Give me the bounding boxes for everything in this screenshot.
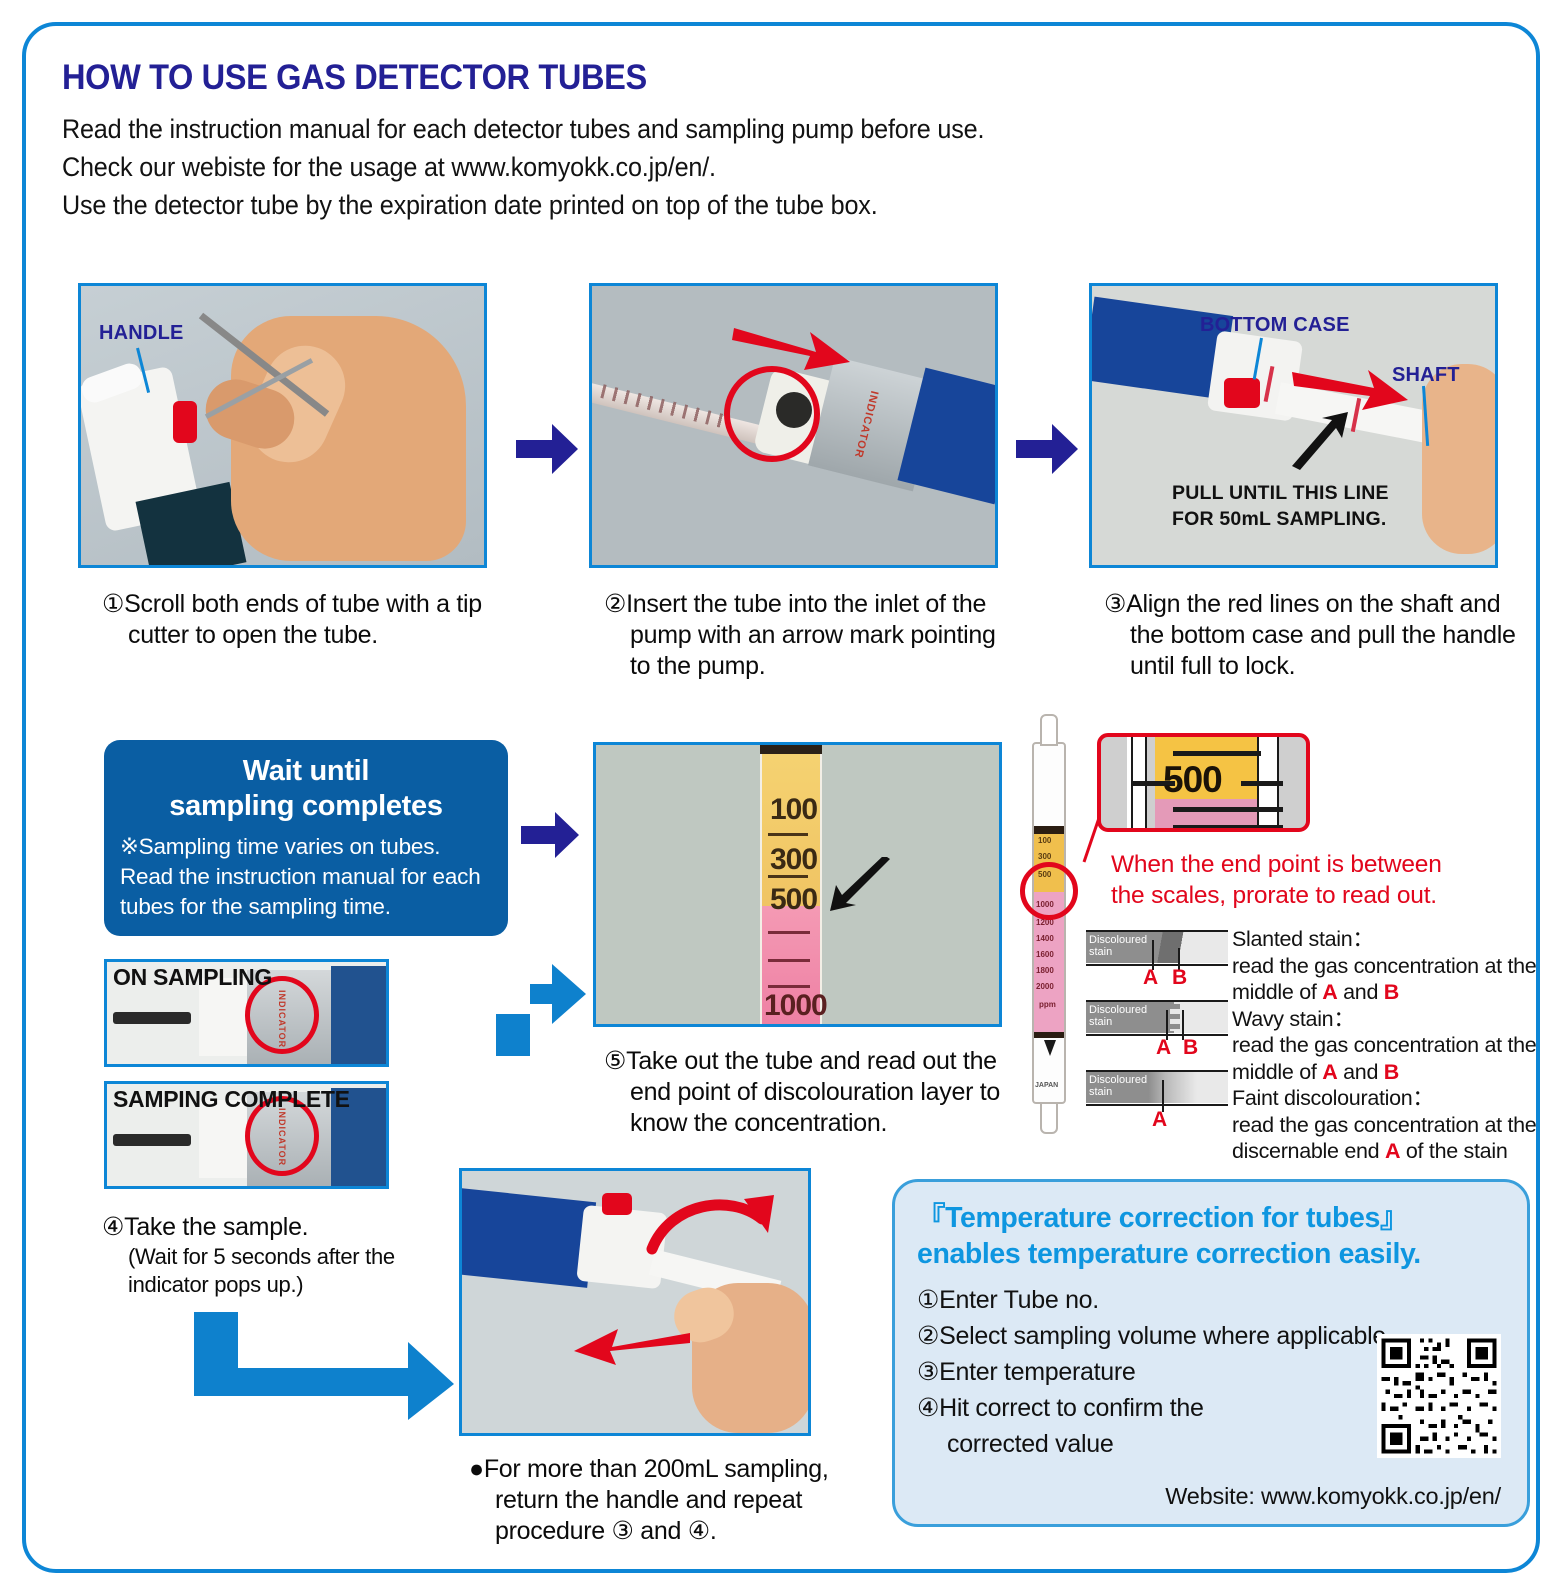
step-4-sub-line-2: indicator pops up.) xyxy=(102,1271,462,1299)
stain-body-3b: discernable end xyxy=(1232,1139,1385,1163)
stain-mid-2: and xyxy=(1337,1060,1383,1084)
tube-diagram: 100 300 500 1000 1200 1400 1600 1800 200… xyxy=(1026,714,1072,1134)
temp-step-2-number: ② xyxy=(917,1322,939,1350)
step-3-text-line-1: Align the red lines on the shaft and xyxy=(1126,590,1500,618)
scale-1400: 1400 xyxy=(1036,934,1054,943)
stain-a-2: A xyxy=(1322,1060,1337,1084)
wavy-edge xyxy=(1170,1004,1180,1031)
magnifier-note-line-2: the scales, prorate to read out. xyxy=(1111,880,1511,911)
stain-mark-a: A xyxy=(1143,966,1158,990)
stain-text-2: Wavy stain： read the gas concentration a… xyxy=(1232,1006,1547,1086)
flow-arrow-elbow-down xyxy=(194,1312,454,1425)
stain-a-3: A xyxy=(1385,1139,1400,1163)
scale-1800: 1800 xyxy=(1036,966,1054,975)
red-lever xyxy=(173,401,197,443)
flow-arrow-1 xyxy=(516,424,578,474)
stain-title-3: Faint discolouration： xyxy=(1232,1086,1434,1110)
return-handle-photo xyxy=(459,1168,811,1436)
step-3-photo: BOTTOM CASE SHAFT PULL UNTIL THIS LINE F… xyxy=(1089,283,1498,568)
handle-label: HANDLE xyxy=(99,322,184,345)
stain-guide-text: Slanted stain： read the gas concentratio… xyxy=(1232,926,1547,1165)
flow-arrow-elbow-up xyxy=(496,946,586,1061)
repeat-line-3: procedure ③ and ④. xyxy=(469,1516,869,1547)
rotate-arrow-red xyxy=(644,1189,776,1266)
flow-arrow-3 xyxy=(521,812,579,858)
wait-note-line-2: Read the instruction manual for each xyxy=(120,862,492,892)
tube-silhouette xyxy=(113,1134,191,1146)
stain-body-1a: read the gas concentration at the xyxy=(1232,954,1536,978)
tube-scale-300: 300 xyxy=(770,843,817,877)
wait-title-line-1: Wait until xyxy=(120,754,492,789)
step-5-text-line-2: end point of discolouration layer to xyxy=(604,1077,1034,1108)
on-sampling-photo: INDICATOR ON SAMPLING xyxy=(104,959,389,1067)
step-3-text-line-3: until full to lock. xyxy=(1104,651,1534,682)
step-3-caption: ③Align the red lines on the shaft and th… xyxy=(1104,589,1534,682)
temp-step-3-number: ③ xyxy=(917,1358,939,1386)
bottom-case-label: BOTTOM CASE xyxy=(1200,314,1350,337)
step-1-caption: ①Scroll both ends of tube with a tip cut… xyxy=(102,589,522,651)
flow-arrow-2 xyxy=(1016,424,1078,474)
scale-1600: 1600 xyxy=(1036,950,1054,959)
stain-body-2b: middle of xyxy=(1232,1060,1322,1084)
stain-example-faint: Discoloured stain A xyxy=(1086,1066,1228,1120)
step-1-text-line-1: Scroll both ends of tube with a tip xyxy=(124,590,482,618)
step-5-caption: ⑤Take out the tube and read out the end … xyxy=(604,1046,1034,1139)
tube-top-band xyxy=(760,745,822,754)
wait-note-line-1: ※Sampling time varies on tubes. xyxy=(120,832,492,862)
pull-line-arrow-black xyxy=(1288,412,1350,475)
discoloured-stain-label: Discoloured stain xyxy=(1089,1074,1147,1098)
step-2-photo: INDICATOR xyxy=(589,283,998,568)
tube-scale-100: 100 xyxy=(770,793,817,827)
flow-direction-arrow xyxy=(1044,1040,1056,1056)
discoloured-stain-label: Discoloured stain xyxy=(1089,934,1147,958)
temp-step-4-number: ④ xyxy=(917,1394,939,1422)
tube-scale-1000: 1000 xyxy=(764,989,827,1023)
stain-example-slanted: Discoloured stain A B xyxy=(1086,926,1228,980)
scale-300: 300 xyxy=(1038,852,1051,861)
stain-title-1: Slanted stain： xyxy=(1232,927,1374,951)
step-5-text-line-1: Take out the tube and read out the xyxy=(626,1047,997,1075)
temp-step-1: ①Enter Tube no. xyxy=(917,1282,1505,1318)
step-2-caption: ②Insert the tube into the inlet of the p… xyxy=(604,589,1034,682)
step-2-number: ② xyxy=(604,590,626,618)
step-4-number: ④ xyxy=(102,1213,124,1241)
stain-body-3a: read the gas concentration at the xyxy=(1232,1113,1536,1137)
intro-line-1: Read the instruction manual for each det… xyxy=(62,110,1297,148)
end-point-arrow xyxy=(828,857,892,918)
wait-note: ※Sampling time varies on tubes. Read the… xyxy=(120,832,492,922)
magnify-circle xyxy=(1020,862,1078,920)
step-1-number: ① xyxy=(102,590,124,618)
wait-info-box: Wait until sampling completes ※Sampling … xyxy=(104,740,508,936)
temp-step-2-text: Select sampling volume where applicable xyxy=(939,1322,1386,1350)
step-1-photo: HANDLE xyxy=(78,283,487,568)
stain-mid-3: of the stain xyxy=(1400,1139,1507,1163)
tube-origin-label: JAPAN xyxy=(1035,1082,1058,1089)
step-4-caption: ④Take the sample. (Wait for 5 seconds af… xyxy=(102,1212,462,1299)
stain-b-1: B xyxy=(1384,980,1399,1004)
tube-tip-top xyxy=(1040,714,1058,746)
temp-step-1-number: ① xyxy=(917,1286,939,1314)
wait-note-line-3: tubes for the sampling time. xyxy=(120,892,492,922)
wait-title-line-2: sampling completes xyxy=(120,789,492,824)
step-4-text: Take the sample. xyxy=(124,1213,308,1241)
on-sampling-label: ON SAMPLING xyxy=(113,964,272,991)
step-3-text-line-2: the bottom case and pull the handle xyxy=(1104,620,1534,651)
intro-line-2: Check our webiste for the usage at www.k… xyxy=(62,148,1297,186)
step-2-text-line-3: to the pump. xyxy=(604,651,1034,682)
tube-seal-band xyxy=(1034,826,1064,834)
magnified-value: 500 xyxy=(1163,759,1222,801)
red-lever xyxy=(1224,378,1260,408)
poster-frame: HOW TO USE GAS DETECTOR TUBES Read the i… xyxy=(22,22,1540,1573)
repeat-note: ●For more than 200mL sampling, return th… xyxy=(469,1454,869,1547)
step-5-text-line-3: know the concentration. xyxy=(604,1108,1034,1139)
highlight-circle xyxy=(724,366,820,462)
scale-2000: 2000 xyxy=(1036,982,1054,991)
hand xyxy=(1422,364,1498,554)
stain-mark-a: A xyxy=(1156,1036,1171,1060)
intro-text: Read the instruction manual for each det… xyxy=(62,110,1362,224)
repeat-bullet: ● xyxy=(469,1455,484,1483)
stain-body-2a: read the gas concentration at the xyxy=(1232,1033,1536,1057)
magnifier-note-line-1: When the end point is between xyxy=(1111,849,1511,880)
stain-b-2: B xyxy=(1384,1060,1399,1084)
step-5-number: ⑤ xyxy=(604,1047,626,1075)
step-2-text-line-2: pump with an arrow mark pointing xyxy=(604,620,1034,651)
step-1-text-line-2: cutter to open the tube. xyxy=(102,620,522,651)
magnifier-note: When the end point is between the scales… xyxy=(1111,849,1511,911)
tube-tip-bottom xyxy=(1040,1102,1058,1134)
repeat-line-1: For more than 200mL sampling, xyxy=(484,1455,829,1483)
stain-body-1b: middle of xyxy=(1232,980,1322,1004)
stain-mark-a: A xyxy=(1152,1108,1167,1132)
red-lever xyxy=(602,1193,632,1215)
sampling-complete-label: SAMPING COMPLETE xyxy=(113,1086,350,1113)
stain-text-1: Slanted stain： read the gas concentratio… xyxy=(1232,926,1547,1006)
sampling-complete-photo: INDICATOR SAMPING COMPLETE xyxy=(104,1081,389,1189)
temperature-correction-box: 『Temperature correction for tubes』 enabl… xyxy=(892,1179,1530,1527)
push-arrow-red xyxy=(572,1319,692,1372)
pull-note-line-1: PULL UNTIL THIS LINE xyxy=(1172,482,1389,505)
website-text: Website: www.komyokk.co.jp/en/ xyxy=(1165,1483,1501,1510)
step-3-number: ③ xyxy=(1104,590,1126,618)
pump-grip xyxy=(331,966,389,1067)
temp-step-3-text: Enter temperature xyxy=(939,1358,1135,1386)
tube-scale-500: 500 xyxy=(770,883,817,917)
tube-seal-band-lower xyxy=(1034,1032,1064,1038)
qr-code[interactable] xyxy=(1377,1334,1501,1458)
stain-example-wavy: Discoloured stain A B xyxy=(1086,996,1228,1050)
scale-100: 100 xyxy=(1038,836,1051,845)
temp-step-1-text: Enter Tube no. xyxy=(939,1286,1099,1314)
temp-step-4-text: Hit correct to confirm the xyxy=(939,1394,1204,1422)
direction-arrow-red xyxy=(732,320,852,379)
stain-mark-b: B xyxy=(1183,1036,1198,1060)
stain-mark-b: B xyxy=(1172,966,1187,990)
stain-mid-1: and xyxy=(1337,980,1383,1004)
scale-unit: ppm xyxy=(1039,1000,1056,1009)
step-2-text-line-1: Insert the tube into the inlet of the xyxy=(626,590,986,618)
pump-grip xyxy=(459,1188,596,1288)
intro-line-3: Use the detector tube by the expiration … xyxy=(62,186,1297,224)
stain-text-3: Faint discolouration： read the gas conce… xyxy=(1232,1085,1547,1165)
discoloured-stain-label: Discoloured stain xyxy=(1089,1004,1147,1028)
temp-title-line-2: enables temperature correction easily. xyxy=(917,1236,1505,1272)
pull-note-line-2: FOR 50mL SAMPLING. xyxy=(1172,508,1387,531)
magnified-scale-callout: 500 xyxy=(1097,733,1310,832)
step-5-photo: 100 300 500 1000 xyxy=(593,742,1002,1027)
temp-title-line-1: 『Temperature correction for tubes』 xyxy=(917,1200,1505,1236)
tube-silhouette xyxy=(113,1012,191,1024)
step-4-sub-line-1: (Wait for 5 seconds after the xyxy=(102,1243,462,1271)
repeat-line-2: return the handle and repeat xyxy=(469,1485,869,1516)
stain-title-2: Wavy stain： xyxy=(1232,1007,1355,1031)
page-title: HOW TO USE GAS DETECTOR TUBES xyxy=(62,58,647,98)
stain-a-1: A xyxy=(1322,980,1337,1004)
